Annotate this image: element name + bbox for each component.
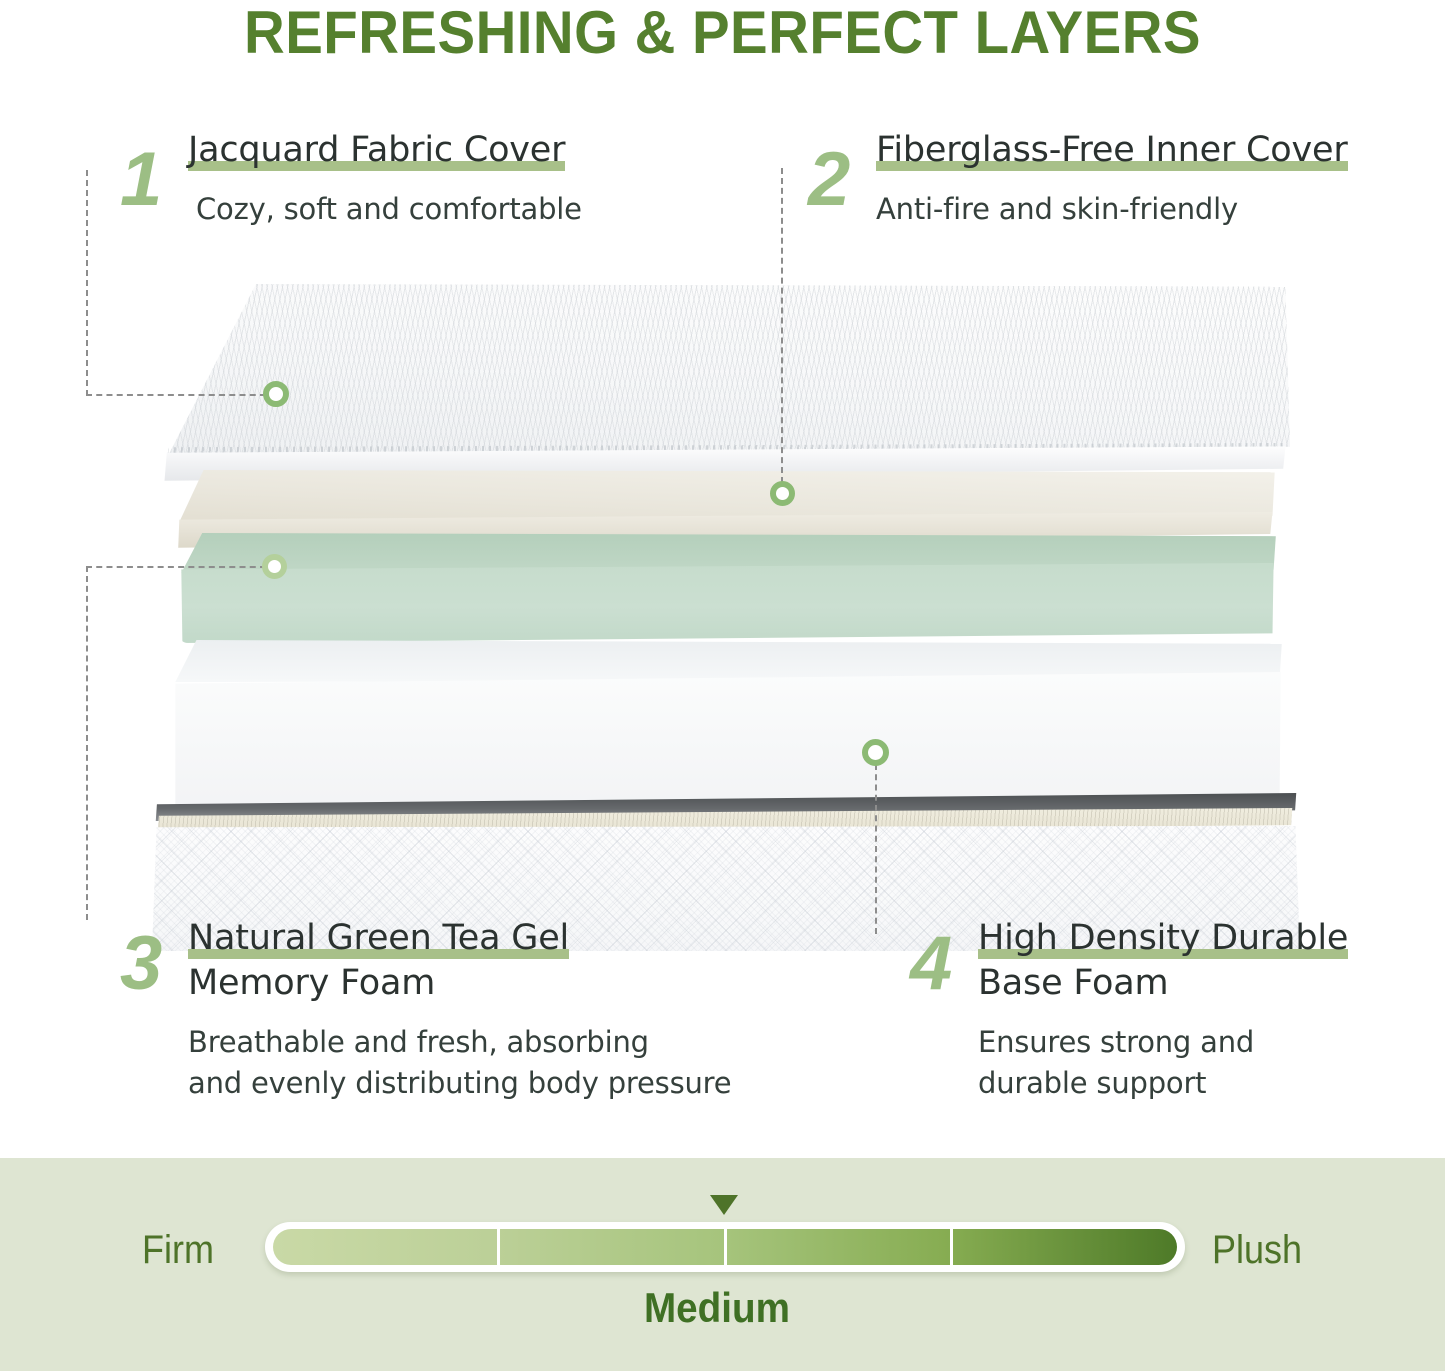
feature-number-1: 1 [120,142,162,218]
feature-description-3: Breathable and fresh, absorbing and even… [188,1022,840,1104]
gel-layer-front-face [178,563,1278,643]
callout-ring-marker-2 [770,481,795,506]
firmness-segment-4 [953,1229,1177,1265]
feature-heading-2-text: Fiberglass-Free Inner Cover [876,130,1348,171]
feature-heading-3-line1: Natural Green Tea Gel [188,918,569,959]
feature-description-3-line2: and evenly distributing body pressure [188,1066,731,1100]
feature-callout-3: 3 Natural Green Tea Gel Memory Foam Brea… [120,916,840,1104]
feature-description-2: Anti-fire and skin-friendly [876,189,1445,230]
feature-number-4: 4 [910,926,952,1002]
callout-ring-marker-4 [862,739,889,766]
feature-number-2: 2 [808,142,850,218]
feature-heading-3: Natural Green Tea Gel Memory Foam [188,916,840,1006]
feature-heading-1: Jacquard Fabric Cover [188,128,760,173]
feature-heading-3-line2: Memory Foam [188,963,435,1003]
feature-callout-1: 1 Jacquard Fabric Cover Cozy, soft and c… [120,128,760,230]
feature-description-4: Ensures strong and durable support [978,1022,1445,1104]
layer-high-density-base-foam [172,640,1284,815]
feature-description-4-line2: durable support [978,1066,1206,1100]
feature-heading-4-line2: Base Foam [978,963,1168,1003]
feature-description-4-line1: Ensures strong and [978,1025,1254,1059]
callout-ring-marker-3 [262,554,287,579]
layer-jacquard-fabric-cover [160,284,1290,484]
feature-heading-2: Fiberglass-Free Inner Cover [876,128,1445,173]
connector-line-2-vertical [781,168,783,483]
feature-description-1: Cozy, soft and comfortable [196,189,760,230]
firmness-segment-3 [727,1229,954,1265]
firmness-marker-triangle-icon [710,1195,738,1215]
connector-line-1-horizontal [86,394,266,396]
connector-line-3-vertical [86,566,88,920]
feature-callout-4: 4 High Density Durable Base Foam Ensures… [910,916,1445,1104]
connector-line-1-vertical [86,170,88,396]
firmness-current-label-text: Medium [644,1284,790,1332]
jacquard-cover-top-face [160,284,1290,459]
feature-number-3: 3 [120,926,162,1002]
firmness-scale-track [273,1229,1177,1265]
callout-ring-marker-1 [263,381,289,407]
feature-callout-2: 2 Fiberglass-Free Inner Cover Anti-fire … [808,128,1445,230]
firmness-segment-1 [273,1229,500,1265]
firmness-segment-2 [500,1229,727,1265]
layer-green-tea-gel-memory-foam [178,533,1278,643]
feature-description-3-line1: Breathable and fresh, absorbing [188,1025,649,1059]
firmness-right-label: Plush [1212,1228,1302,1273]
connector-line-4-vertical [875,764,877,934]
feature-heading-1-text: Jacquard Fabric Cover [188,130,565,171]
feature-heading-4-line1: High Density Durable [978,918,1348,959]
firmness-left-label: Firm [142,1228,214,1273]
firmness-scale-bar[interactable] [265,1222,1185,1272]
connector-line-3-horizontal [86,566,266,568]
feature-heading-4: High Density Durable Base Foam [978,916,1445,1006]
firmness-current-label: Medium [58,1284,1387,1332]
